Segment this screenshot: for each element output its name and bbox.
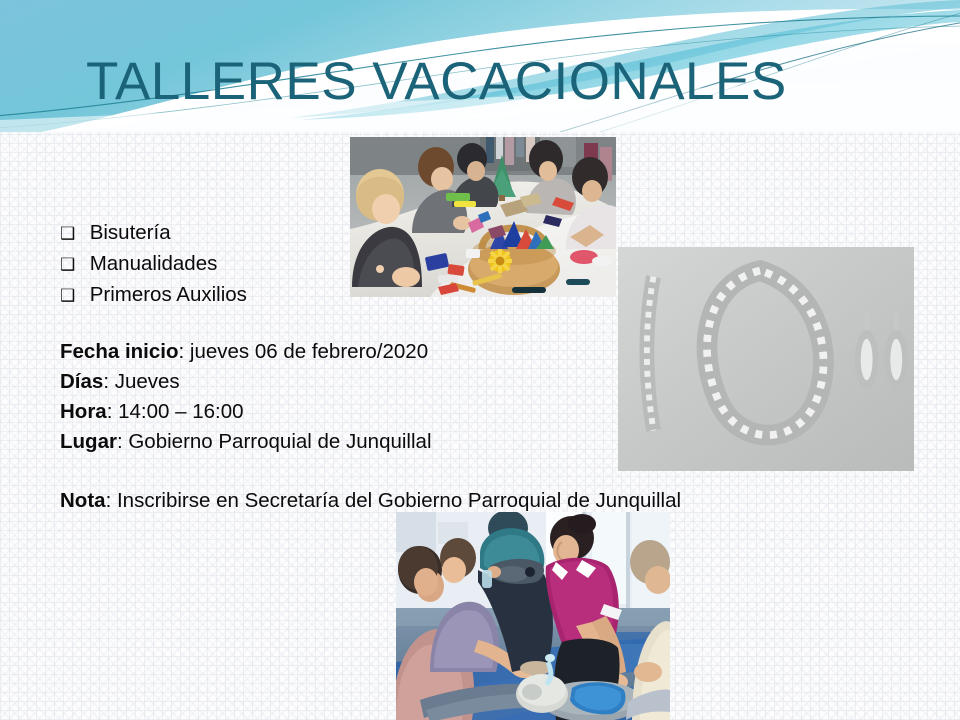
jewelry-collage-photo [618,247,914,471]
detail-row-fecha-inicio: Fecha inicio: jueves 06 de febrero/2020 [60,337,620,367]
list-item: ❑ Primeros Auxilios [60,280,620,311]
detail-key: Hora [60,400,107,423]
detail-value: Jueves [115,370,180,393]
empty-square-bullet-icon: ❑ [60,219,80,249]
detail-separator: : [117,430,128,453]
detail-row-hora: Hora: 14:00 – 16:00 [60,397,620,427]
list-item-label: Manualidades [86,252,218,275]
empty-square-bullet-icon: ❑ [60,250,80,280]
detail-value: Gobierno Parroquial de Junquillal [128,430,431,453]
detail-value: 14:00 – 16:00 [118,400,243,423]
detail-row-dias: Días: Jueves [60,367,620,397]
collage-cell-silver-set [618,247,914,471]
note-key: Nota [60,489,106,512]
detail-separator: : [107,400,118,423]
list-item: ❑ Bisutería [60,218,620,249]
note-row: Nota: Inscribirse en Secretaría del Gobi… [60,486,620,516]
list-item-label: Bisutería [86,221,171,244]
first-aid-training-photo [396,512,670,720]
detail-row-lugar: Lugar: Gobierno Parroquial de Junquillal [60,427,620,457]
first-aid-training-image [396,512,670,720]
list-item-label: Primeros Auxilios [86,283,247,306]
page-title: TALLERES VACACIONALES [86,52,787,112]
list-item: ❑ Manualidades [60,249,620,280]
empty-square-bullet-icon: ❑ [60,281,80,311]
silver-jewelry-image [618,247,914,471]
detail-key: Lugar [60,430,117,453]
detail-value: jueves 06 de febrero/2020 [190,340,428,363]
jewelry-collage-grid [618,247,914,471]
note-value: Inscribirse en Secretaría del Gobierno P… [117,489,681,512]
detail-separator: : [178,340,189,363]
event-details: Fecha inicio: jueves 06 de febrero/2020 … [60,337,620,457]
slide-body: ❑ Bisutería ❑ Manualidades ❑ Primeros Au… [60,218,620,516]
slide: TALLERES VACACIONALES ❑ Bisutería ❑ Manu… [0,0,960,720]
detail-separator: : [103,370,114,393]
note-separator: : [106,489,117,512]
workshop-list: ❑ Bisutería ❑ Manualidades ❑ Primeros Au… [60,218,620,311]
detail-key: Días [60,370,103,393]
detail-key: Fecha inicio [60,340,178,363]
